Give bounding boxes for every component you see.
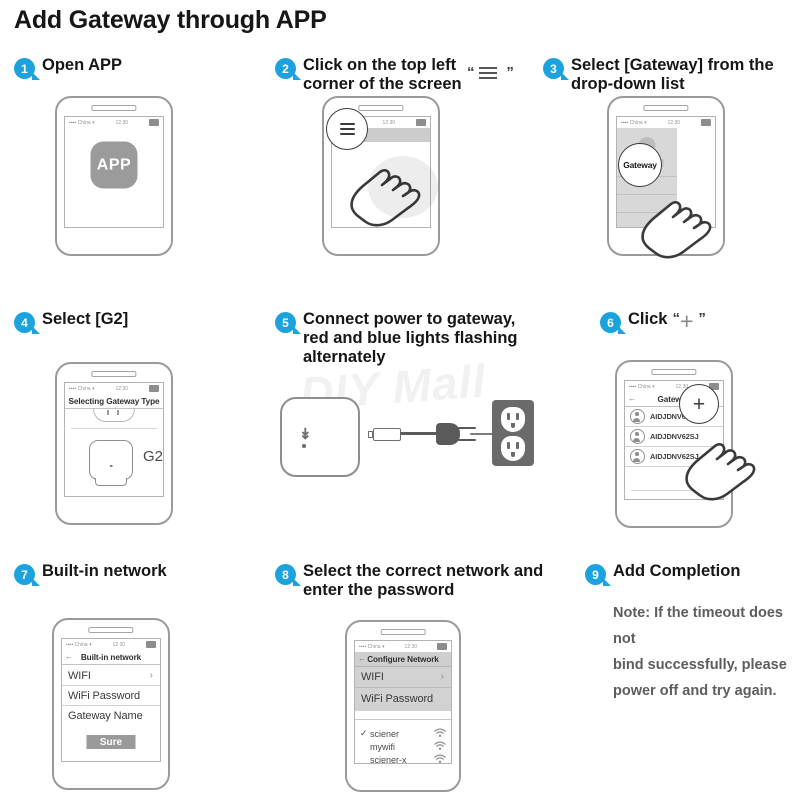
step-3: 3 Select [Gateway] from the drop-down li…	[543, 56, 774, 94]
avatar	[630, 429, 645, 444]
power-plug	[436, 423, 460, 445]
chevron-right-icon: ›	[150, 671, 153, 681]
phone-step-7: ▪▪▪▪ China ▾ 12:30 ← Built-in network WI…	[52, 618, 170, 790]
step-8-badge: 8	[275, 564, 296, 585]
nav-title-4: Selecting Gateway Type	[65, 397, 163, 406]
wifi-signal-icon	[434, 741, 446, 753]
step-8-label: Select the correct network and enter the…	[303, 562, 543, 600]
step-6: 6 Click “ + ”	[600, 310, 706, 333]
plug-prong	[458, 427, 476, 429]
step-9: 9 Add Completion	[585, 562, 740, 585]
wifi-list-item[interactable]: sciener-x	[355, 753, 451, 764]
quote-close: ”	[698, 310, 706, 327]
wifi-signal-icon	[434, 754, 446, 765]
form-row-password[interactable]: WiFi Password	[355, 688, 451, 709]
status-left: ▪▪▪▪ China ▾	[69, 385, 95, 392]
plug-prong	[458, 439, 476, 441]
magnifier-add[interactable]: +	[679, 384, 719, 424]
hand-outline	[675, 408, 785, 508]
phone-step-2: ▪▪▪▪ China ▾ 12:30	[322, 96, 440, 256]
status-left: ▪▪▪▪ China ▾	[621, 119, 647, 126]
phone-screen-4: ▪▪▪▪ China ▾ 12:30 ← Selecting Gateway T…	[64, 382, 164, 497]
phone-step-1: ▪▪▪▪ China ▾ 12:30 APP	[55, 96, 173, 256]
nav-title-8: Configure Network	[355, 655, 451, 664]
status-center: 12:30	[383, 120, 396, 126]
avatar	[630, 409, 645, 424]
gateway-blink-icon: ↡	[299, 427, 312, 442]
step-3-badge: 3	[543, 58, 564, 79]
back-arrow-icon[interactable]: ←	[628, 395, 636, 403]
step-9-badge: 9	[585, 564, 606, 585]
step-8: 8 Select the correct network and enter t…	[275, 562, 543, 600]
gateway-led-dot	[302, 444, 306, 448]
avatar	[630, 449, 645, 464]
phone-speaker	[91, 371, 136, 377]
phone-speaker	[381, 629, 426, 635]
wifi-list-item[interactable]: ✓ sciener	[355, 727, 451, 740]
battery-icon	[146, 641, 156, 648]
back-arrow-icon[interactable]: ←	[358, 655, 366, 663]
step-9-note: Note: If the timeout does not bind succe…	[613, 600, 793, 704]
check-icon: ✓	[360, 728, 369, 739]
step-9-label: Add Completion	[613, 562, 740, 581]
phone-screen-1: ▪▪▪▪ China ▾ 12:30 APP	[64, 116, 164, 228]
form-row-password[interactable]: WiFi Password	[62, 686, 160, 706]
step-1: 1 Open APP	[14, 56, 122, 79]
divider	[355, 719, 451, 720]
step-9-head: 9 Add Completion	[585, 562, 740, 585]
magnifier-hamburger[interactable]	[326, 108, 368, 150]
step-1-badge: 1	[14, 58, 35, 79]
status-bar: ▪▪▪▪ China ▾ 12:30	[617, 117, 715, 128]
hamburger-menu-icon[interactable]	[340, 120, 355, 138]
battery-icon	[416, 119, 426, 126]
step-5-badge: 5	[275, 312, 296, 333]
step-3-label: Select [Gateway] from the drop-down list	[571, 56, 774, 94]
status-center: 12:30	[116, 120, 129, 126]
step-2-head: 2 Click on the top left corner of the sc…	[275, 56, 462, 94]
wifi-signal-icon	[434, 728, 446, 740]
step-7-badge: 7	[14, 564, 35, 585]
step-5-head: 5 Connect power to gateway, red and blue…	[275, 310, 518, 367]
status-bar: ▪▪▪▪ China ▾ 12:30	[62, 639, 160, 650]
status-center: 12:30	[116, 386, 129, 392]
status-left: ▪▪▪▪ China ▾	[66, 641, 92, 648]
gateway-led	[110, 465, 113, 468]
status-left: ▪▪▪▪ China ▾	[629, 383, 655, 390]
step-5-label: Connect power to gateway, red and blue l…	[303, 310, 518, 367]
form-row-gateway-name[interactable]: Gateway Name	[62, 706, 160, 726]
step-2: 2 Click on the top left corner of the sc…	[275, 56, 462, 94]
status-left: ▪▪▪▪ China ▾	[69, 119, 95, 126]
outlet-socket-bottom	[501, 436, 525, 461]
builtin-network-form: WIFI › WiFi Password Gateway Name	[62, 666, 160, 726]
step-1-label: Open APP	[42, 56, 122, 75]
phone-speaker	[651, 369, 696, 375]
tab-indicator	[93, 409, 135, 422]
chevron-right-icon: ›	[441, 672, 444, 682]
page-title: Add Gateway through APP	[14, 6, 327, 35]
phone-speaker	[643, 105, 688, 111]
battery-icon	[149, 119, 159, 126]
phone-screen-8: ▪▪▪▪ China ▾ 12:30 ← Configure Network W…	[354, 640, 452, 764]
step-2-hamburger-quote: “ ”	[462, 64, 514, 82]
pointing-hand-icon	[340, 134, 450, 239]
form-row-label: Gateway Name	[62, 710, 143, 722]
usb-connector	[373, 428, 401, 441]
battery-icon	[701, 119, 711, 126]
outlet-socket-top	[501, 407, 525, 432]
step-4-head: 4 Select [G2]	[14, 310, 128, 333]
magnifier-gateway-label[interactable]: Gateway	[623, 160, 657, 170]
quote-close: ”	[506, 64, 514, 81]
hamburger-menu-icon	[479, 64, 497, 82]
gateway-base	[95, 478, 127, 486]
phone-step-6: ▪▪▪▪ China ▾ 12:30 ← Gateway AIDJDNV62SJ…	[615, 360, 733, 528]
nav-bar-8: ← Configure Network	[355, 652, 451, 667]
wifi-list-item[interactable]: mywifi	[355, 740, 451, 753]
gateway-device: ↡	[280, 397, 360, 477]
form-row-wifi[interactable]: WIFI ›	[355, 667, 451, 688]
phone-step-4: ▪▪▪▪ China ▾ 12:30 ← Selecting Gateway T…	[55, 362, 173, 525]
step-7: 7 Built-in network	[14, 562, 167, 585]
wifi-network-list: ✓ sciener mywifi sciener-x	[355, 727, 451, 764]
status-bar: ▪▪▪▪ China ▾ 12:30	[65, 383, 163, 394]
nav-title-7: Built-in network	[62, 653, 160, 662]
phone-speaker	[91, 105, 136, 111]
quote-open: “	[672, 310, 680, 327]
step-6-head: 6 Click “ + ”	[600, 310, 706, 333]
nav-bar-7: ← Built-in network	[62, 650, 160, 665]
wifi-name: sciener-x	[370, 755, 407, 765]
gateway-device-thumb[interactable]	[89, 440, 133, 480]
quote-open: “	[467, 64, 475, 81]
nav-bar-4: ← Selecting Gateway Type	[65, 394, 163, 409]
status-bar: ▪▪▪▪ China ▾ 12:30	[65, 117, 163, 128]
wall-outlet	[492, 400, 534, 466]
step-7-label: Built-in network	[42, 562, 167, 581]
back-arrow-icon[interactable]: ←	[65, 653, 73, 661]
step-4: 4 Select [G2]	[14, 310, 128, 333]
step-4-badge: 4	[14, 312, 35, 333]
step-6-badge: 6	[600, 312, 621, 333]
phone-speaker	[358, 105, 403, 111]
wifi-name: sciener	[370, 729, 399, 739]
step-8-head: 8 Select the correct network and enter t…	[275, 562, 543, 600]
form-row-label: WIFI	[62, 670, 91, 682]
step-3-head: 3 Select [Gateway] from the drop-down li…	[543, 56, 774, 94]
form-row-label: WiFi Password	[355, 693, 433, 705]
divider	[71, 428, 157, 429]
step-5-illustration: ↡	[280, 395, 540, 490]
battery-icon	[149, 385, 159, 392]
battery-icon	[437, 643, 447, 650]
pointing-hand-icon	[675, 408, 785, 513]
power-cable	[400, 432, 438, 435]
step-2-badge: 2	[275, 58, 296, 79]
step-4-label: Select [G2]	[42, 310, 128, 329]
step-7-head: 7 Built-in network	[14, 562, 167, 585]
wifi-name: mywifi	[370, 742, 395, 752]
step-6-label: Click	[628, 310, 667, 329]
phone-speaker	[88, 627, 133, 633]
step-1-head: 1 Open APP	[14, 56, 122, 79]
form-row-wifi[interactable]: WIFI ›	[62, 666, 160, 686]
app-icon[interactable]: APP	[91, 142, 138, 189]
status-center: 12:30	[405, 644, 418, 650]
magnifier-gateway[interactable]: Gateway	[618, 143, 662, 187]
form-row-label: WIFI	[355, 671, 384, 683]
status-center: 12:30	[113, 642, 126, 648]
plus-icon: +	[680, 310, 693, 333]
phone-step-3: ▪▪▪▪ China ▾ 12:30 Gateway	[607, 96, 725, 256]
step-2-label: Click on the top left corner of the scre…	[303, 56, 462, 93]
network-form-panel: WIFI › WiFi Password	[355, 667, 451, 711]
plus-icon[interactable]: +	[693, 394, 705, 415]
step-5: 5 Connect power to gateway, red and blue…	[275, 310, 518, 367]
device-model-label: G2	[143, 448, 163, 465]
sure-button[interactable]: Sure	[87, 735, 136, 749]
status-bar: ▪▪▪▪ China ▾ 12:30	[355, 641, 451, 652]
form-row-label: WiFi Password	[62, 690, 140, 702]
back-arrow-icon[interactable]: ←	[68, 397, 76, 405]
phone-step-8: ▪▪▪▪ China ▾ 12:30 ← Configure Network W…	[345, 620, 461, 792]
instruction-sheet: Add Gateway through APP DIY Mall 1 Open …	[0, 0, 800, 800]
status-left: ▪▪▪▪ China ▾	[359, 643, 385, 650]
status-center: 12:30	[668, 120, 681, 126]
phone-screen-7: ▪▪▪▪ China ▾ 12:30 ← Built-in network WI…	[61, 638, 161, 762]
